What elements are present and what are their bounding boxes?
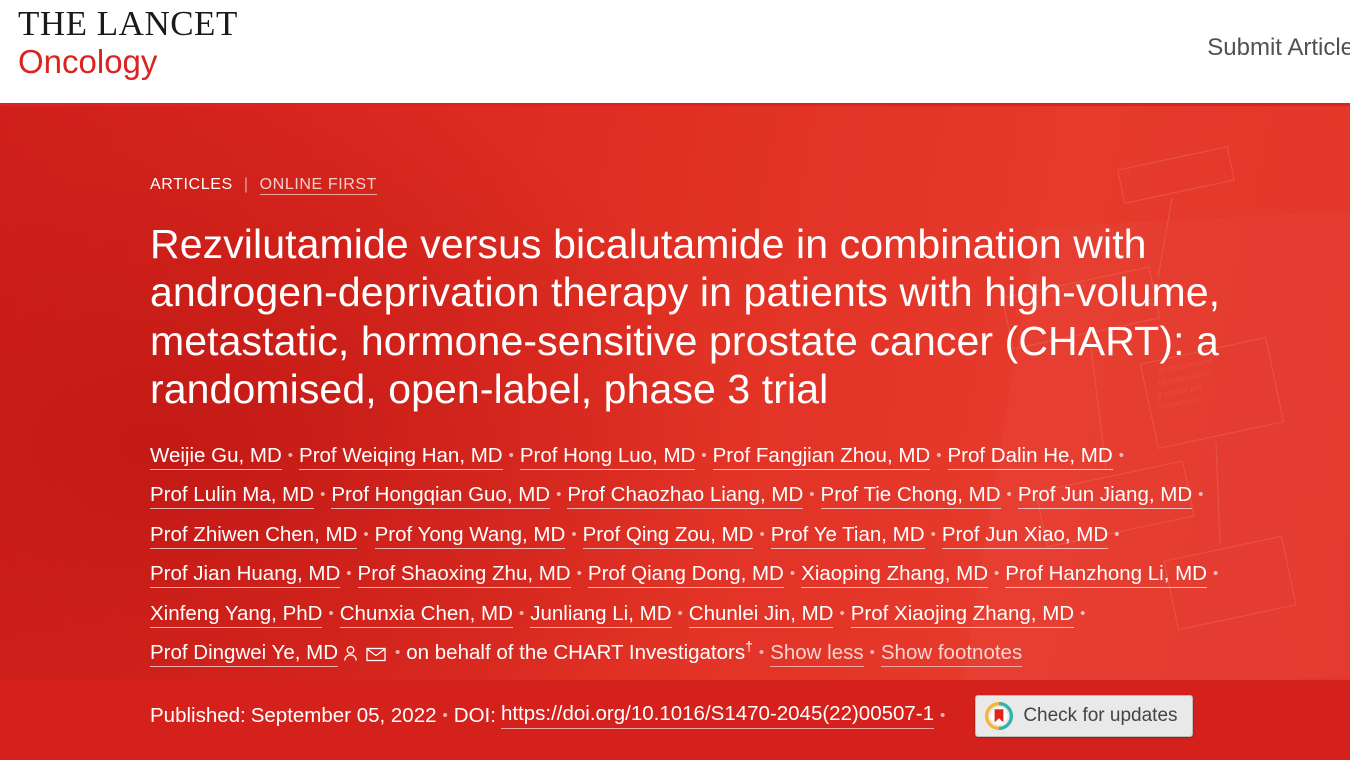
author-link[interactable]: Prof Zhiwen Chen, MD <box>150 523 357 549</box>
site-header: THE LANCET Oncology Submit Article <box>0 0 1350 106</box>
article-header-content: ARTICLES | ONLINE FIRST Rezvilutamide ve… <box>0 106 1350 737</box>
author-separator: • <box>519 600 524 629</box>
author-separator: • <box>678 600 683 629</box>
author-separator: • <box>1114 521 1119 550</box>
author-link[interactable]: Prof Hong Luo, MD <box>520 444 695 470</box>
group-attribution: on behalf of the CHART Investigators <box>406 641 745 664</box>
author-separator: • <box>870 639 875 668</box>
author-link[interactable]: Prof Jun Xiao, MD <box>942 523 1108 549</box>
show-footnotes-button[interactable]: Show footnotes <box>881 641 1022 667</box>
published-label: Published: <box>150 704 246 728</box>
author-separator: • <box>809 481 814 510</box>
breadcrumb: ARTICLES | ONLINE FIRST <box>150 176 1350 194</box>
doi-label: DOI: <box>454 704 496 728</box>
author-link[interactable]: Prof Dalin He, MD <box>948 444 1113 470</box>
site-logo[interactable]: THE LANCET Oncology <box>18 6 238 78</box>
corresponding-author-link[interactable]: Prof Dingwei Ye, MD <box>150 641 338 667</box>
author-link[interactable]: Prof Shaoxing Zhu, MD <box>358 562 571 588</box>
author-link[interactable]: Prof Ye Tian, MD <box>771 523 925 549</box>
crossmark-logo-icon <box>985 702 1013 730</box>
breadcrumb-section: ARTICLES <box>150 176 233 193</box>
author-link[interactable]: Junliang Li, MD <box>530 602 671 628</box>
author-separator: • <box>363 521 368 550</box>
author-separator: • <box>1080 600 1085 629</box>
author-separator: • <box>1198 481 1203 510</box>
author-separator: • <box>328 600 333 629</box>
author-separator: • <box>346 560 351 589</box>
author-link[interactable]: Prof Chaozhao Liang, MD <box>567 483 803 509</box>
author-link[interactable]: Prof Qing Zou, MD <box>583 523 754 549</box>
person-icon[interactable] <box>341 644 360 663</box>
author-separator: • <box>936 442 941 471</box>
author-link[interactable]: Prof Hongqian Guo, MD <box>331 483 550 509</box>
author-link[interactable]: Xinfeng Yang, PhD <box>150 602 322 628</box>
author-separator: • <box>759 639 764 668</box>
crossmark-check-for-updates-button[interactable]: Check for updates <box>975 695 1192 737</box>
crossmark-label: Check for updates <box>1023 705 1177 727</box>
meta-separator: • <box>940 707 945 724</box>
author-link[interactable]: Chunlei Jin, MD <box>689 602 834 628</box>
breadcrumb-online-first-link[interactable]: ONLINE FIRST <box>260 176 377 195</box>
show-less-button[interactable]: Show less <box>770 641 863 667</box>
author-separator: • <box>839 600 844 629</box>
brand-title-lancet: THE LANCET <box>18 6 238 41</box>
author-link[interactable]: Prof Hanzhong Li, MD <box>1005 562 1207 588</box>
header-actions: Submit Article <box>1207 34 1350 62</box>
meta-separator: • <box>443 707 448 724</box>
footnote-marker[interactable]: † <box>745 638 753 654</box>
author-separator: • <box>577 560 582 589</box>
author-separator: • <box>571 521 576 550</box>
author-link[interactable]: Prof Tie Chong, MD <box>821 483 1001 509</box>
author-separator: • <box>759 521 764 550</box>
author-link[interactable]: Weijie Gu, MD <box>150 444 282 470</box>
author-link[interactable]: Prof Fangjian Zhou, MD <box>713 444 931 470</box>
brand-title-oncology: Oncology <box>18 45 238 78</box>
article-hero-banner: 3 218 ongoing at inter progression-free … <box>0 106 1350 760</box>
author-separator: • <box>701 442 706 471</box>
page-title: Rezvilutamide versus bicalutamide in com… <box>150 220 1270 414</box>
author-separator: • <box>288 442 293 471</box>
author-list: Weijie Gu, MD•Prof Weiqing Han, MD•Prof … <box>150 436 1230 673</box>
doi-link[interactable]: https://doi.org/10.1016/S1470-2045(22)00… <box>501 702 934 729</box>
author-link[interactable]: Prof Weiqing Han, MD <box>299 444 503 470</box>
breadcrumb-separator: | <box>244 176 249 193</box>
publication-meta: Published: September 05, 2022 • DOI: htt… <box>150 695 1350 737</box>
author-separator: • <box>1119 442 1124 471</box>
author-separator: • <box>320 481 325 510</box>
author-link[interactable]: Prof Qiang Dong, MD <box>588 562 784 588</box>
author-separator: • <box>1213 560 1218 589</box>
author-separator: • <box>509 442 514 471</box>
author-link[interactable]: Prof Yong Wang, MD <box>375 523 566 549</box>
author-link[interactable]: Prof Jun Jiang, MD <box>1018 483 1192 509</box>
author-separator: • <box>931 521 936 550</box>
author-separator: • <box>395 639 400 668</box>
author-link[interactable]: Prof Xiaojing Zhang, MD <box>851 602 1074 628</box>
author-separator: • <box>556 481 561 510</box>
author-link[interactable]: Prof Lulin Ma, MD <box>150 483 314 509</box>
author-link[interactable]: Prof Jian Huang, MD <box>150 562 340 588</box>
author-link[interactable]: Chunxia Chen, MD <box>340 602 513 628</box>
envelope-icon[interactable] <box>366 646 386 662</box>
author-separator: • <box>1007 481 1012 510</box>
author-separator: • <box>790 560 795 589</box>
published-date: September 05, 2022 <box>251 704 437 728</box>
author-separator: • <box>994 560 999 589</box>
submit-article-link[interactable]: Submit Article <box>1207 34 1350 62</box>
author-link[interactable]: Xiaoping Zhang, MD <box>801 562 988 588</box>
